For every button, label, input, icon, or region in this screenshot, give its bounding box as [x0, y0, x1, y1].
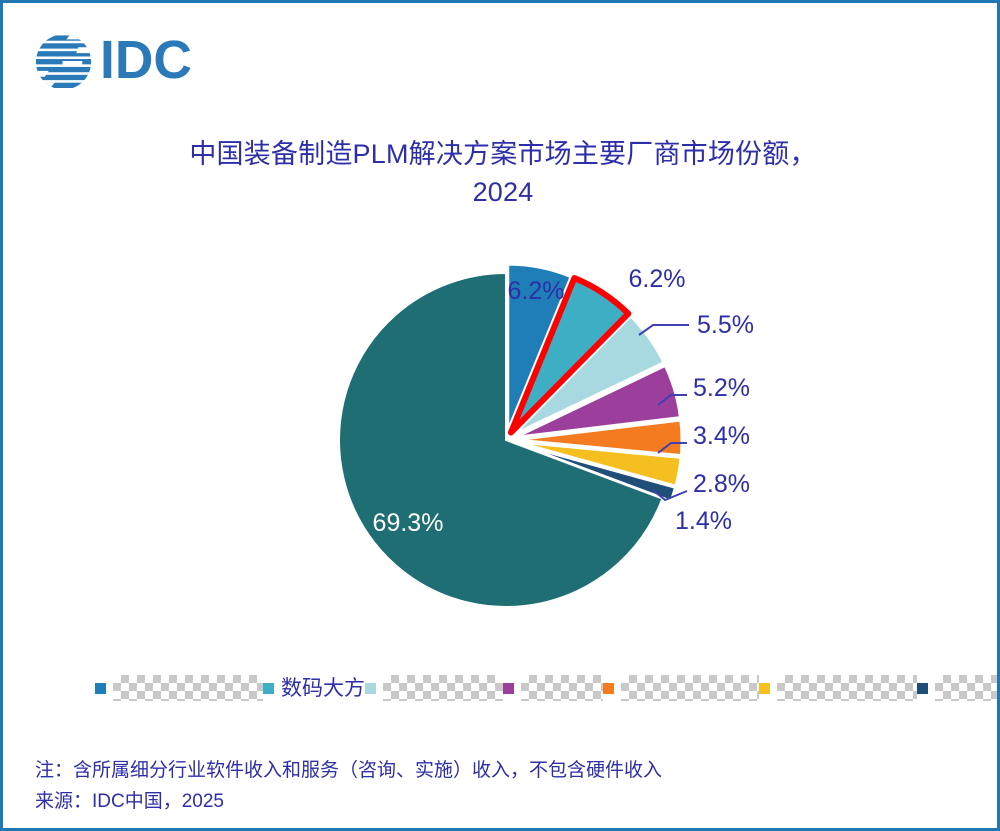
- legend-swatch: [365, 683, 376, 694]
- chart-title-line2: 2024: [123, 173, 883, 211]
- idc-globe-icon: [33, 31, 94, 93]
- legend-item[interactable]: [365, 675, 503, 701]
- legend-item[interactable]: [95, 675, 263, 701]
- pie-chart-svg: 6.2%6.2%5.5%5.2%3.4%2.8%1.4%69.3%: [3, 233, 1000, 653]
- pie-value-label: 1.4%: [675, 507, 732, 535]
- pie-value-label: 3.4%: [693, 422, 750, 450]
- chart-title-line1: 中国装备制造PLM解决方案市场主要厂商市场份额，: [123, 135, 883, 173]
- chart-title: 中国装备制造PLM解决方案市场主要厂商市场份额， 2024: [123, 135, 883, 212]
- footnote-note: 注：含所属细分行业软件收入和服务（咨询、实施）收入，不包含硬件收入: [35, 755, 935, 786]
- pie-value-label: 6.2%: [629, 265, 686, 293]
- svg-text:IDC: IDC: [100, 32, 192, 90]
- legend-swatch: [603, 683, 614, 694]
- legend-item[interactable]: [759, 675, 917, 701]
- chart-legend: 数码大方其他: [95, 671, 925, 705]
- footnote-source: 来源：IDC中国，2025: [35, 786, 935, 817]
- legend-label: [383, 675, 503, 701]
- legend-swatch: [263, 683, 274, 694]
- legend-label: 数码大方: [281, 678, 365, 699]
- pie-value-label: 6.2%: [508, 277, 565, 305]
- legend-item[interactable]: 数码大方: [263, 678, 365, 699]
- legend-swatch: [759, 683, 770, 694]
- idc-logo: IDC: [33, 29, 243, 95]
- legend-label: [935, 675, 1000, 701]
- legend-label: [521, 675, 603, 701]
- legend-item[interactable]: [503, 675, 603, 701]
- chart-page: IDC 中国装备制造PLM解决方案市场主要厂商市场份额， 2024 6.2%6.…: [0, 0, 1000, 831]
- legend-swatch: [503, 683, 514, 694]
- pie-value-label: 5.5%: [697, 311, 754, 339]
- legend-item[interactable]: [917, 675, 1000, 701]
- pie-value-label: 69.3%: [373, 509, 444, 537]
- pie-value-label: 2.8%: [693, 470, 750, 498]
- chart-footnotes: 注：含所属细分行业软件收入和服务（咨询、实施）收入，不包含硬件收入 来源：IDC…: [35, 755, 935, 818]
- legend-item[interactable]: [603, 675, 759, 701]
- pie-chart: 6.2%6.2%5.5%5.2%3.4%2.8%1.4%69.3%: [3, 233, 1000, 653]
- idc-wordmark: IDC: [100, 32, 243, 92]
- pie-value-label: 5.2%: [693, 374, 750, 402]
- legend-swatch: [917, 683, 928, 694]
- legend-label: [113, 675, 263, 701]
- legend-label: [777, 675, 917, 701]
- legend-swatch: [95, 683, 106, 694]
- legend-label: [621, 675, 759, 701]
